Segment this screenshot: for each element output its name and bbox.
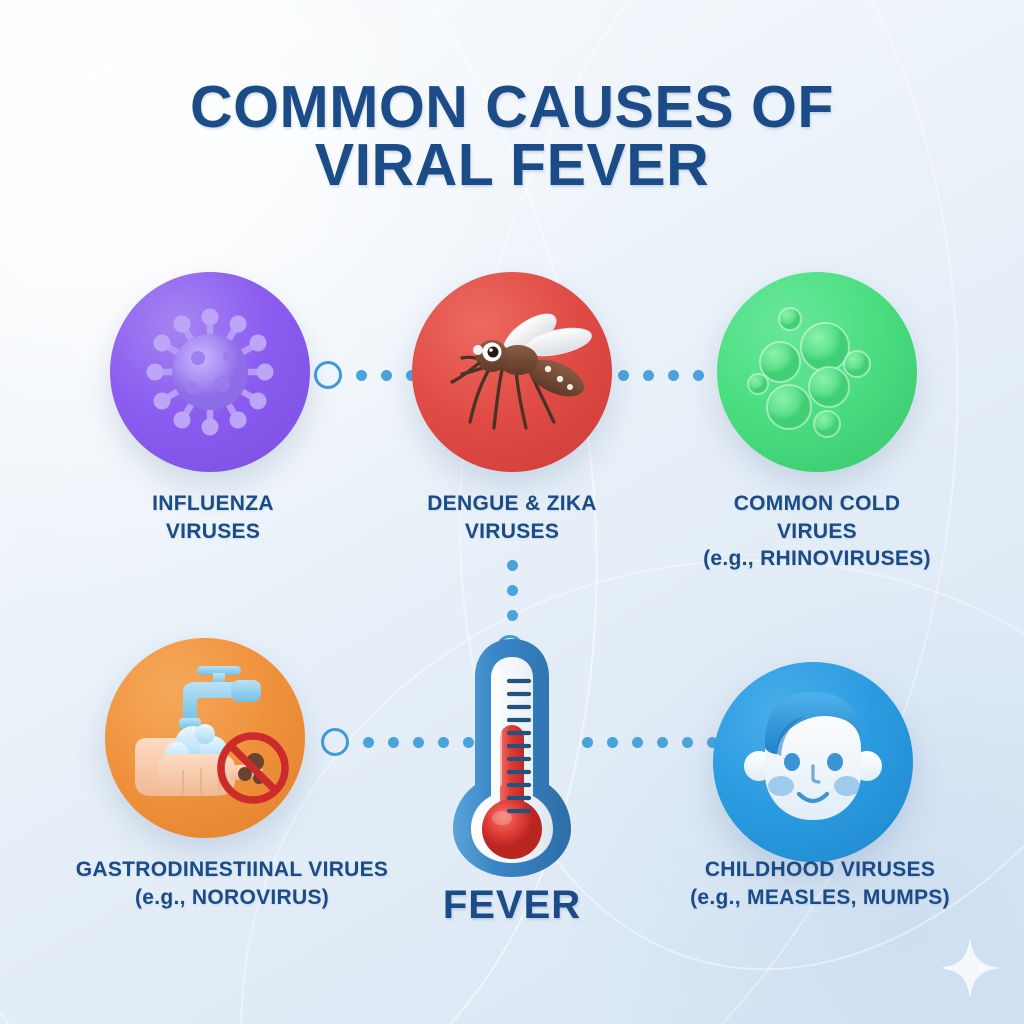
sparkle-star-icon xyxy=(938,936,1002,1000)
connector-ring-icon xyxy=(314,361,342,389)
connector-dot-icon xyxy=(607,737,618,748)
connector-dot-icon xyxy=(388,737,399,748)
connector-dot-icon xyxy=(413,737,424,748)
label-line: GASTRODINESTIINAL VIRUES xyxy=(32,856,432,884)
connector-dot-icon xyxy=(618,370,629,381)
label-line: (e.g., RHINOVIRUSES) xyxy=(652,545,982,573)
label-line: CHILDHOOD VIRUSES xyxy=(640,856,1000,884)
label-line: INFLUENZA xyxy=(48,490,378,518)
connector-dot-icon xyxy=(582,737,593,748)
page-title: COMMON CAUSES OF VIRAL FEVER xyxy=(0,78,1024,195)
connector-dot-icon xyxy=(682,737,693,748)
virus-particle-icon xyxy=(110,272,310,472)
title-line-2: VIRAL FEVER xyxy=(0,136,1024,194)
node-influenza[interactable] xyxy=(110,272,310,472)
node-childhood[interactable] xyxy=(713,662,913,862)
label-line: VIRUSES xyxy=(48,518,378,546)
germ-cells-icon xyxy=(717,272,917,472)
child-face-icon xyxy=(713,662,913,862)
infographic-poster: COMMON CAUSES OF VIRAL FEVER xyxy=(0,0,1024,1024)
title-line-1: COMMON CAUSES OF xyxy=(190,74,834,140)
connector-dot-icon xyxy=(693,370,704,381)
connector-dot-icon xyxy=(643,370,654,381)
connector-dot-icon xyxy=(632,737,643,748)
node-gastrointestinal[interactable] xyxy=(105,638,305,838)
label-dengue-zika: DENGUE & ZIKA VIRUSES xyxy=(347,490,677,545)
label-line: DENGUE & ZIKA xyxy=(347,490,677,518)
mosquito-icon xyxy=(412,272,612,472)
connector-dot-icon xyxy=(507,610,518,621)
label-line: COMMON COLD xyxy=(652,490,982,518)
fever-label: FEVER xyxy=(0,883,1024,928)
node-dengue-zika[interactable] xyxy=(412,272,612,472)
label-line: VIRUES xyxy=(652,518,982,546)
connector-dot-icon xyxy=(657,737,668,748)
connector-dot-icon xyxy=(507,560,518,571)
connector-dot-icon xyxy=(356,370,367,381)
label-influenza: INFLUENZA VIRUSES xyxy=(48,490,378,545)
node-common-cold[interactable] xyxy=(717,272,917,472)
connector-ring-icon xyxy=(321,728,349,756)
label-common-cold: COMMON COLD VIRUES (e.g., RHINOVIRUSES) xyxy=(652,490,982,573)
connector-dot-icon xyxy=(507,585,518,596)
handwashing-faucet-icon xyxy=(105,638,305,838)
thermometer-icon[interactable] xyxy=(443,633,581,883)
connector-dot-icon xyxy=(363,737,374,748)
label-line: VIRUSES xyxy=(347,518,677,546)
connector-dot-icon xyxy=(381,370,392,381)
connector-dot-icon xyxy=(668,370,679,381)
